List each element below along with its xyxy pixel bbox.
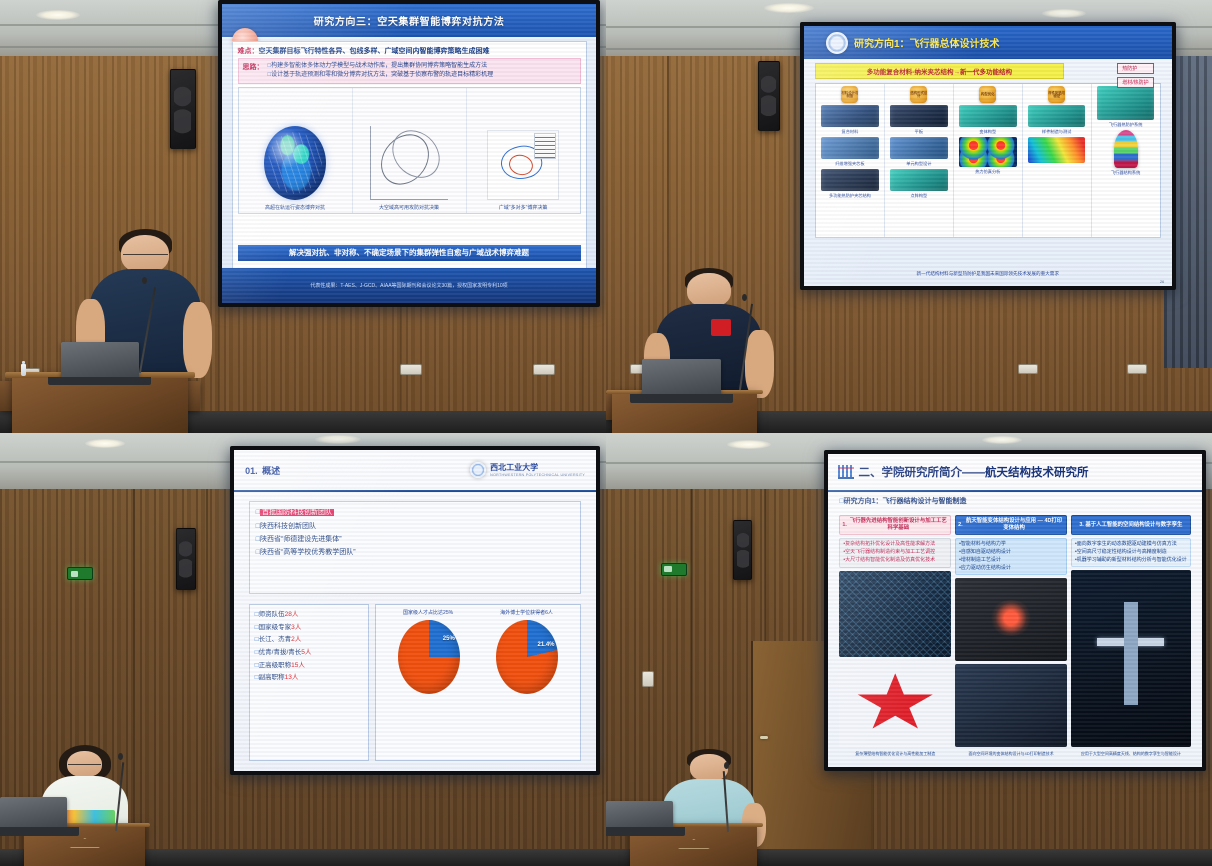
slide-1-footer: 代表性成果：T-AES、J-GCD、AIAA等国际期刊和会议论文30篇，授权国家… [222,268,596,304]
chart-titles: 国家级人才占比达25% 海外博士学位获得者6人 [380,609,577,616]
roster-box: 师资队伍28人 国家级专家3人 长江、杰青2人 优青/青拔/青长5人 正高级职称… [249,604,369,761]
approach-label: 思路： [243,62,264,72]
slide-4: 二、学院研究所简介——航天结构技术研究所 研究方向1：飞行器结构设计与智能制造 … [828,454,1202,766]
presentation-photo-3: 01. 概述 西北工业大学 NORTHWESTERN POLYTECHNICAL… [0,433,606,866]
projector-screen-2: 研究方向1：飞行器总体设计技术 多功能复合材料-纳米夹芯结构→新一代多功能结构 … [800,22,1176,290]
roster-label: 副高职称 [259,674,285,681]
approach-item: 构建多智能体多体动力学模型与战术动作库，提出集群协同博弈策略智能生成方法 [268,62,494,71]
trajectory-plot-icon [487,130,559,200]
section-kicker: 01. 概述 [245,461,280,479]
honor-text: 首批国防科技创新团队 [260,509,334,516]
tag: 增材/热防护 [1117,77,1153,88]
tag: 热防护 [1117,63,1153,74]
slide-2-body: 多功能复合材料-纳米夹芯结构→新一代多功能结构 热防护 增材/热防护 材料设计与… [815,63,1161,278]
slide-2: 研究方向1：飞行器总体设计技术 多功能复合材料-纳米夹芯结构→新一代多功能结构 … [804,26,1172,286]
roster-count: 13人 [285,674,299,681]
roster-label: 长江、杰青 [259,636,292,643]
column-heading: 3. 基于人工智能的空间结构设计与数字孪生 [1071,515,1191,535]
roster-item: 正高级职称15人 [255,660,363,673]
presentation-photo-1: 研究方向三：空天集群智能博弈对抗方法 难点：空天集群目标飞行特性各异、包线多样、… [0,0,606,433]
ceiling-light [982,436,1022,444]
column-figures [839,571,951,747]
column-index: 2. [958,522,963,529]
lab-equipment-photo [955,578,1067,661]
figure-caption: 高超在轨运行姿态博弈对抗 [265,204,325,211]
stage-badge: 样件制造与验证 [1048,86,1065,103]
figure-caption: 广域"多对多"博弈决策 [499,204,548,211]
stage-badge: 结构形式设计 [910,86,927,103]
photo-caption: 平板 [915,129,923,135]
matrix-col-4: 样件制造与验证 样件制造与测试 [1023,84,1092,237]
stress-contour-figure [1028,137,1086,163]
star-structure-photo [839,660,951,747]
laptop-base [630,394,733,403]
star-shape-icon [856,673,934,734]
pie-slice-label: 25% [443,636,455,642]
figure-caption: 大空域高可用攻防对抗决策 [379,204,439,211]
material-photo [821,105,879,127]
pie-chart-area: 国家级人才占比达25% 海外博士学位获得者6人 25% 21.4% [375,604,582,761]
photo-caption: 样件制造与测试 [1042,129,1071,135]
projector-screen-4: 二、学院研究所简介——航天结构技术研究所 研究方向1：飞行器结构设计与智能制造 … [824,450,1206,770]
university-brand: 西北工业大学 NORTHWESTERN POLYTECHNICAL UNIVER… [470,462,585,478]
difficulty-line: 难点：空天集群目标飞行特性各异、包线多样、广域空间内智能博弈策略生成困难 [238,46,581,56]
roster-item: 长江、杰青2人 [255,634,363,647]
photo-caption: 单元构型设计 [906,161,931,167]
slide-4-title: 二、学院研究所简介——航天结构技术研究所 [859,464,1089,480]
head [690,754,727,781]
roster-count: 15人 [291,662,305,669]
difficulty-text: 空天集群目标飞行特性各异、包线多样、广域空间内智能博弈策略生成困难 [259,48,490,55]
glasses-icon [123,254,168,257]
stage-badge: 构型优化 [979,86,996,103]
slide-1-title: 研究方向三：空天集群智能博弈对抗方法 [314,13,505,28]
photo-collage-grid: 研究方向三：空天集群智能博弈对抗方法 难点：空天集群目标飞行特性各异、包线多样、… [0,0,1212,866]
column-items: 复杂结构拓扑优化设计及高性能求解方法 空天飞行器结构制造约束与加工工艺调控 大尺… [839,538,951,567]
roster-item: 师资队伍28人 [255,609,363,622]
arm [183,302,212,378]
column-item: 机器学习辅助的新型材料结构分析与智能优化设计 [1075,557,1187,565]
pie-chart-2: 21.4% [496,620,558,694]
column-index: 1. [842,522,847,529]
pies: 25% 21.4% [380,620,577,694]
laptop-4 [606,801,673,827]
figure-trajectory: 广域"多对多"博弈决策 [466,88,580,213]
laptop-base [48,377,151,386]
photo-caption: 飞行器热防护系统 [1109,122,1143,128]
rocket-structure-icon [1114,130,1138,168]
brand-name-en: NORTHWESTERN POLYTECHNICAL UNIVERSITY [490,473,585,477]
plot-legend [534,133,556,159]
slide-2-footer: 新一代结构材料与新型热防护是我国未来国际领先技术发展的重大需求 [815,271,1161,277]
heatmap-figure [959,137,1017,167]
photo-caption: 变体构型 [979,129,996,135]
column-title: 飞行器先进结构智能创新设计与加工工艺科学基础 [848,518,948,532]
matrix-col-1: 材料设计与制备 复合材料 纤维增强夹芯板 多功能热防护夹芯结构 [816,84,885,237]
column-title: 航天智能变体结构设计与应用 — 4D打印变体结构 [964,518,1064,532]
column-item: 应力驱动仿生结构设计 [959,565,1063,573]
honor-item: 首批国防科技创新团队 [256,506,575,519]
wall-speaker-icon [176,528,196,590]
pie-chart-1: 25% [398,620,460,694]
column-figures [1071,570,1191,747]
roster-label: 师资队伍 [259,611,285,618]
laptop-base [606,827,685,836]
roster-item: 国家级专家3人 [255,622,363,635]
laptop-base [0,827,79,836]
slide-1: 研究方向三：空天集群智能博弈对抗方法 难点：空天集群目标飞行特性各异、包线多样、… [222,4,596,303]
slide-4-header: 二、学院研究所简介——航天结构技术研究所 [828,454,1202,491]
wall-speaker-icon [733,520,752,580]
brand-name: 西北工业大学 [490,462,585,473]
structure-mesh-photo [839,571,951,658]
column-item: 智能材料与结构力学 [959,541,1063,549]
slide-4-subtitle: 研究方向1：飞行器结构设计与智能制造 [839,496,966,506]
research-column-1: 1. 飞行器先进结构智能创新设计与加工工艺科学基础 复杂结构拓扑优化设计及高性能… [839,515,951,757]
laptop-2 [642,359,721,394]
column-item: 空间高尺寸稳定性结构设计与高精度制造 [1075,549,1187,557]
photo-caption: 点阵构型 [910,193,927,199]
printed-sample-photo [955,664,1067,747]
pie-title-1: 国家级人才占比达25% [403,609,453,616]
footer-text: 代表性成果：T-AES、J-GCD、AIAA等国际期刊和会议论文30篇，授权国家… [310,282,507,289]
slide-3-lower: 师资队伍28人 国家级专家3人 长江、杰青2人 优青/青拔/青长5人 正高级职称… [249,604,582,761]
matrix-col-5: 飞行器热防护系统 飞行器结构系统 [1092,84,1160,237]
roster-count: 2人 [291,636,301,643]
tps-diagram [1097,86,1155,120]
roster-label: 国家级专家 [259,624,292,631]
laptop-3 [0,797,67,827]
matrix-col-3: 构型优化 变体构型 热力仿真分析 [954,84,1023,237]
difficulty-label: 难点： [238,48,259,55]
research-columns: 1. 飞行器先进结构智能创新设计与加工工艺科学基础 复杂结构拓扑优化设计及高性能… [839,515,1190,757]
projector-screen-1: 研究方向三：空天集群智能博弈对抗方法 难点：空天集群目标飞行特性各异、包线多样、… [218,0,600,307]
roster-count: 28人 [285,611,299,618]
slide-2-titlebar: 研究方向1：飞行器总体设计技术 [804,26,1172,60]
slide-2-title: 研究方向1：飞行器总体设计技术 [854,35,1000,50]
figure-caption: 应用于大型空间高精度天线、结构的数字孪生与智能设计 [1071,750,1191,757]
wall-switch [642,671,654,687]
ceiling-light [727,440,771,449]
slide-3-header: 01. 概述 西北工业大学 NORTHWESTERN POLYTECHNICAL… [234,450,596,492]
pie-slice-label: 21.4% [537,642,554,648]
projector-screen-3: 01. 概述 西北工业大学 NORTHWESTERN POLYTECHNICAL… [230,446,600,775]
photo-caption: 复合材料 [842,129,859,135]
figure-caption: 面向空间环境的变体结构设计与4D打印制造技术 [955,750,1067,757]
ceiling-light [764,3,814,13]
water-bottle [21,364,26,376]
figure-orbit: 大空域高可用攻防对抗决策 [352,88,466,213]
orbit-plot-icon [370,126,448,200]
slide-1-banner: 解决强对抗、非对称、不确定场景下的集群弹性自愈与广域战术博弈难题 [238,245,581,261]
tag-group: 热防护 增材/热防护 [1117,63,1153,88]
exit-sign-icon [661,563,687,576]
satellite-photo [1071,570,1191,747]
pie-title-2: 海外博士学位获得者6人 [500,609,553,616]
presentation-photo-4: 二、学院研究所简介——航天结构技术研究所 研究方向1：飞行器结构设计与智能制造 … [606,433,1212,866]
figure-globe: 高超在轨运行姿态博弈对抗 [239,88,352,213]
university-seal-icon [470,462,486,478]
roster-item: 副高职称13人 [255,672,363,685]
column-index: 3. [1079,522,1084,529]
roster-count: 5人 [301,649,311,656]
column-heading: 2. 航天智能变体结构设计与应用 — 4D打印变体结构 [955,515,1067,535]
page-number: 26 [1160,279,1164,284]
column-item: 自感知自驱动结构设计 [959,549,1063,557]
research-column-2: 2. 航天智能变体结构设计与应用 — 4D打印变体结构 智能材料与结构力学 自感… [955,515,1067,757]
flag-emblem-icon [711,319,730,337]
roster-item: 优青/青拔/青长5人 [255,647,363,660]
honors-box: 首批国防科技创新团队 陕西科技创新团队 陕西省“师德建设先进集体” 陕西省“高等… [249,501,582,594]
column-title: 基于人工智能的空间结构设计与数字孪生 [1085,522,1182,529]
ceiling-light [315,435,361,444]
head [687,273,731,307]
honor-item: 陕西科技创新团队 [256,520,575,533]
roster-count: 3人 [291,624,301,631]
wall-socket [400,364,422,375]
structure-photo [890,169,948,191]
ceiling-light [36,10,80,20]
roster-label: 正高级职称 [259,662,292,669]
exit-sign-icon [67,567,93,580]
slide-1-titlebar: 研究方向三：空天集群智能博弈对抗方法 [222,4,596,37]
slide-3: 01. 概述 西北工业大学 NORTHWESTERN POLYTECHNICAL… [234,450,596,771]
wall-socket [1018,364,1038,374]
column-item: 复杂结构拓扑优化设计及高性能求解方法 [843,541,947,549]
column-heading: 1. 飞行器先进结构智能创新设计与加工工艺科学基础 [839,515,951,535]
wall-speaker-icon [758,61,780,131]
column-item: 面向数字孪生的动态数据驱动建模与仿真方法 [1075,541,1187,549]
photo-caption: 热力仿真分析 [975,169,1000,175]
honor-item: 陕西省“师德建设先进集体” [256,533,575,546]
university-seal-icon [826,32,848,54]
material-photo [821,169,879,191]
section-number: 01. [245,466,258,476]
yellow-banner: 多功能复合材料-纳米夹芯结构→新一代多功能结构 [815,63,1064,79]
simulation-photo [959,105,1017,127]
research-column-3: 3. 基于人工智能的空间结构设计与数字孪生 面向数字孪生的动态数据驱动建模与仿真… [1071,515,1191,757]
structure-photo [890,137,948,159]
wall-speaker-icon [170,69,196,149]
sample-photo [1028,105,1086,127]
material-matrix: 材料设计与制备 复合材料 纤维增强夹芯板 多功能热防护夹芯结构 结构形式设计 [815,83,1161,238]
section-title: 概述 [262,466,280,476]
structure-photo [890,105,948,127]
wall-socket [1127,364,1147,374]
stage-badge: 材料设计与制备 [841,86,858,103]
photo-caption: 飞行器结构系统 [1111,170,1140,176]
laptop-1 [61,342,140,377]
arm [745,330,774,398]
photo-caption: 多功能热防护夹芯结构 [829,193,871,199]
matrix-col-2: 结构形式设计 平板 单元构型设计 点阵构型 [885,84,954,237]
approach-item: 设计基于轨迹预测和零和微分博弈对抗方法，突破基于侦察布警的轨迹目标精彩机理 [268,71,494,80]
column-item: 大尺寸结构智能优化制造及仿真优化技术 [843,557,947,565]
approach-block: 思路： 构建多智能体多体动力学模型与战术动作库，提出集群协同博弈策略智能生成方法… [238,58,581,83]
photo-caption: 纤维增强夹芯板 [835,161,864,167]
column-items: 面向数字孪生的动态数据驱动建模与仿真方法 空间高尺寸稳定性结构设计与高精度制造 … [1071,538,1191,567]
ceiling-light [1042,9,1086,18]
roster-label: 优青/青拔/青长 [259,649,302,656]
figure-row: 高超在轨运行姿态博弈对抗 大空域高可用攻防对抗决策 广域"多对多"博弈决策 [238,87,581,214]
column-item: 空天飞行器结构制造约束与加工工艺调控 [843,549,947,557]
honor-item: 陕西省“高等学校优秀教学团队” [256,546,575,559]
slide-1-body: 难点：空天集群目标飞行特性各异、包线多样、广域空间内智能博弈策略生成困难 思路：… [232,41,587,297]
column-items: 智能材料与结构力学 自感知自驱动结构设计 增材制造工艺设计 应力驱动仿生结构设计 [955,538,1067,575]
presentation-photo-2: 研究方向1：飞行器总体设计技术 多功能复合材料-纳米夹芯结构→新一代多功能结构 … [606,0,1212,433]
column-figures [955,578,1067,747]
ceiling-light [85,439,125,448]
figure-caption: 复杂薄壁结构智能优化设计与高性能加工制造 [839,750,951,757]
column-item: 增材制造工艺设计 [959,557,1063,565]
glasses-icon [68,764,101,767]
earth-globe-icon [264,126,326,200]
building-icon [838,465,854,479]
material-photo [821,137,879,159]
wall-socket [533,364,555,375]
